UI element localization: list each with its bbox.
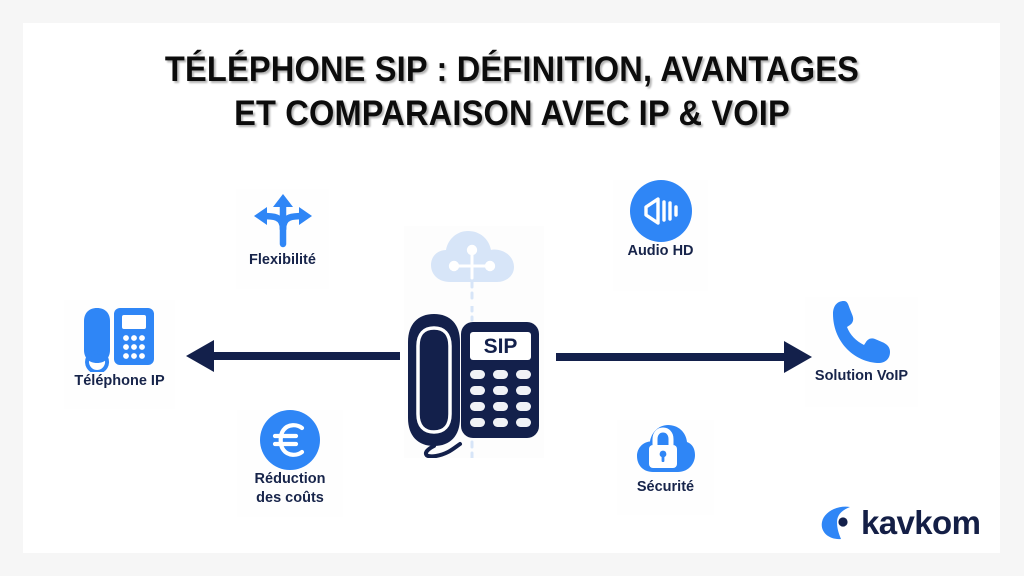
- desk-phone-icon: [81, 300, 159, 372]
- network-cloud: [426, 226, 522, 306]
- cloud-lock-icon: [635, 420, 697, 478]
- feature-label-line-2: des coûts: [256, 489, 324, 508]
- feature-label: Solution VoIP: [815, 367, 908, 386]
- central-sip-phone-group: SIP: [404, 226, 544, 458]
- infographic-canvas: TÉLÉPHONE SIP : DÉFINITION, AVANTAGES ET…: [0, 0, 1024, 576]
- page-title: TÉLÉPHONE SIP : DÉFINITION, AVANTAGES ET…: [0, 48, 1024, 136]
- logo-text: kavkom: [861, 506, 980, 539]
- feature-flexibilite: Flexibilité: [236, 189, 329, 289]
- euro-circle-icon: [260, 410, 320, 470]
- title-line-2: ET COMPARAISON AVEC IP & VOIP: [36, 92, 988, 136]
- feature-label: Sécurité: [637, 478, 694, 497]
- kavkom-logo[interactable]: kavkom: [819, 503, 980, 541]
- speaker-volume-icon: [630, 180, 692, 242]
- feature-telephone-ip: Téléphone IP: [64, 300, 175, 409]
- feature-reduction-des-couts: Réduction des coûts: [237, 410, 343, 517]
- feature-solution-voip: Solution VoIP: [805, 297, 918, 407]
- feature-audio-hd: Audio HD: [613, 180, 708, 291]
- phone-handset-icon: [830, 297, 894, 367]
- feature-label: Téléphone IP: [74, 372, 164, 391]
- feature-securite: Sécurité: [617, 420, 714, 515]
- arrow-left: [184, 336, 400, 376]
- title-line-1: TÉLÉPHONE SIP : DÉFINITION, AVANTAGES: [36, 48, 988, 92]
- arrow-right: [556, 337, 814, 377]
- sip-desk-phone: SIP: [404, 306, 544, 458]
- feature-label-line-1: Réduction: [255, 470, 326, 489]
- feature-label: Audio HD: [627, 242, 693, 261]
- feature-label: Flexibilité: [249, 251, 316, 270]
- handset-c-mark: [819, 503, 853, 541]
- phone-screen-label: SIP: [484, 335, 518, 358]
- three-way-arrows-icon: [251, 189, 315, 251]
